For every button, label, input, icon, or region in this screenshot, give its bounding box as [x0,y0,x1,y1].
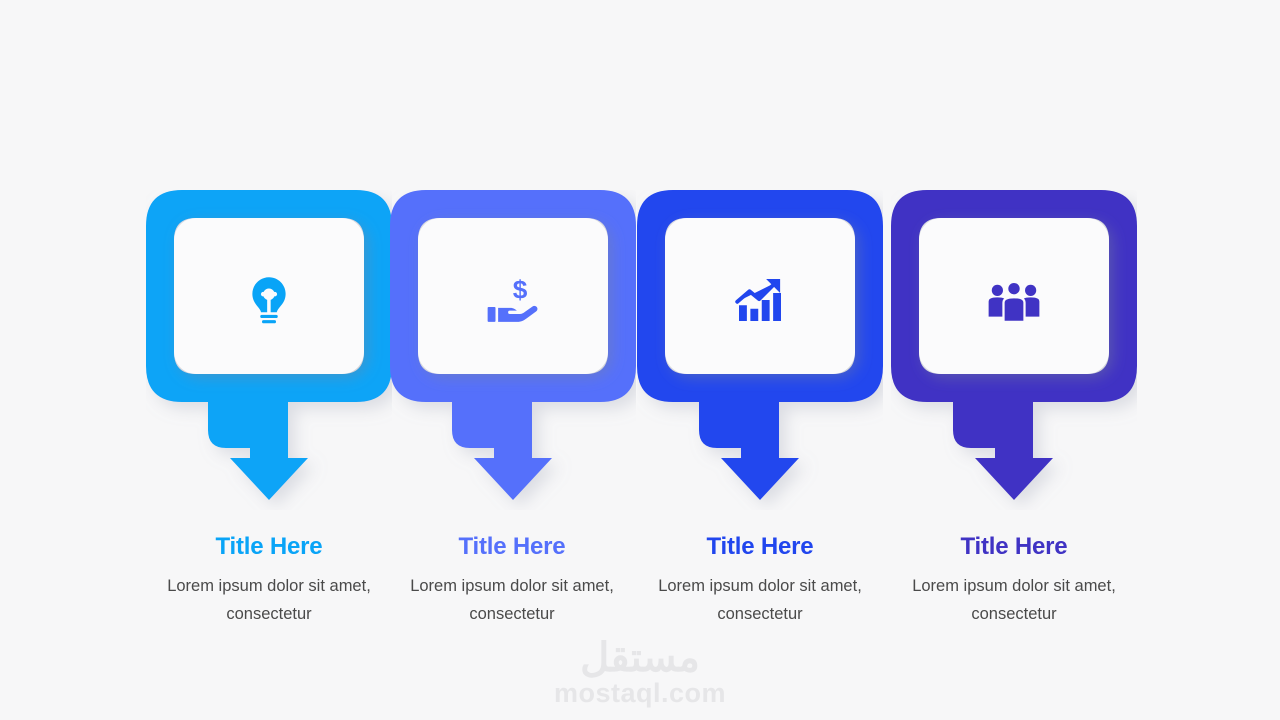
infographic-canvas: $ [0,0,1280,720]
caption-title-3: Title Here [646,534,874,560]
caption-desc-1: Lorem ipsum dolor sit amet, consectetur [155,573,383,628]
caption-desc-2: Lorem ipsum dolor sit amet, consectetur [398,573,626,628]
watermark-arabic-text: مستقل [490,638,790,678]
card-unit-3[interactable] [637,190,883,510]
caption-title-2: Title Here [398,534,626,560]
card-shape-2 [390,190,636,510]
card-shape-3 [637,190,883,510]
watermark-domain-text: mostaql.com [490,680,790,707]
card-unit-2[interactable]: $ [390,190,636,510]
caption-title-1: Title Here [155,534,383,560]
caption-4: Title Here Lorem ipsum dolor sit amet, c… [900,534,1128,628]
watermark: مستقل mostaql.com [490,638,790,707]
cards-row: $ [0,190,1280,510]
caption-1: Title Here Lorem ipsum dolor sit amet, c… [155,534,383,628]
card-unit-1[interactable] [146,190,392,510]
caption-title-4: Title Here [900,534,1128,560]
caption-2: Title Here Lorem ipsum dolor sit amet, c… [398,534,626,628]
caption-3: Title Here Lorem ipsum dolor sit amet, c… [646,534,874,628]
card-shape-1 [146,190,392,510]
card-shape-4 [891,190,1137,510]
caption-desc-4: Lorem ipsum dolor sit amet, consectetur [900,573,1128,628]
card-unit-4[interactable] [891,190,1137,510]
caption-desc-3: Lorem ipsum dolor sit amet, consectetur [646,573,874,628]
